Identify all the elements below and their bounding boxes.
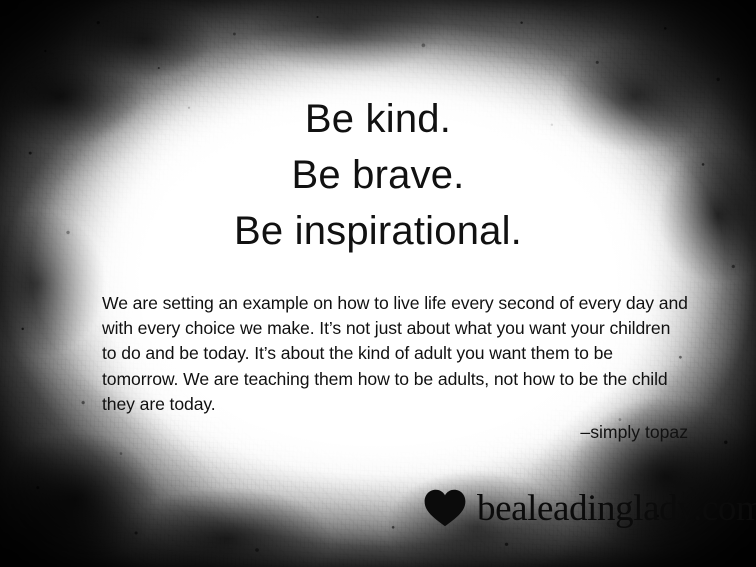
- headline-line-1: Be kind.: [0, 99, 756, 139]
- site-logo-text: bealeadinglady.com: [477, 490, 756, 527]
- quote-body-text: We are setting an example on how to live…: [102, 291, 688, 417]
- poster-content: Be kind. Be brave. Be inspirational. We …: [0, 0, 756, 567]
- headline-line-2: Be brave.: [0, 155, 756, 195]
- quote-poster: Be kind. Be brave. Be inspirational. We …: [0, 0, 756, 567]
- heart-icon: [424, 489, 466, 527]
- headline-line-3: Be inspirational.: [0, 211, 756, 251]
- site-logo: bealeadinglady.com: [424, 489, 756, 527]
- quote-paragraph: We are setting an example on how to live…: [102, 291, 688, 417]
- quote-attribution: –simply topaz: [102, 421, 688, 443]
